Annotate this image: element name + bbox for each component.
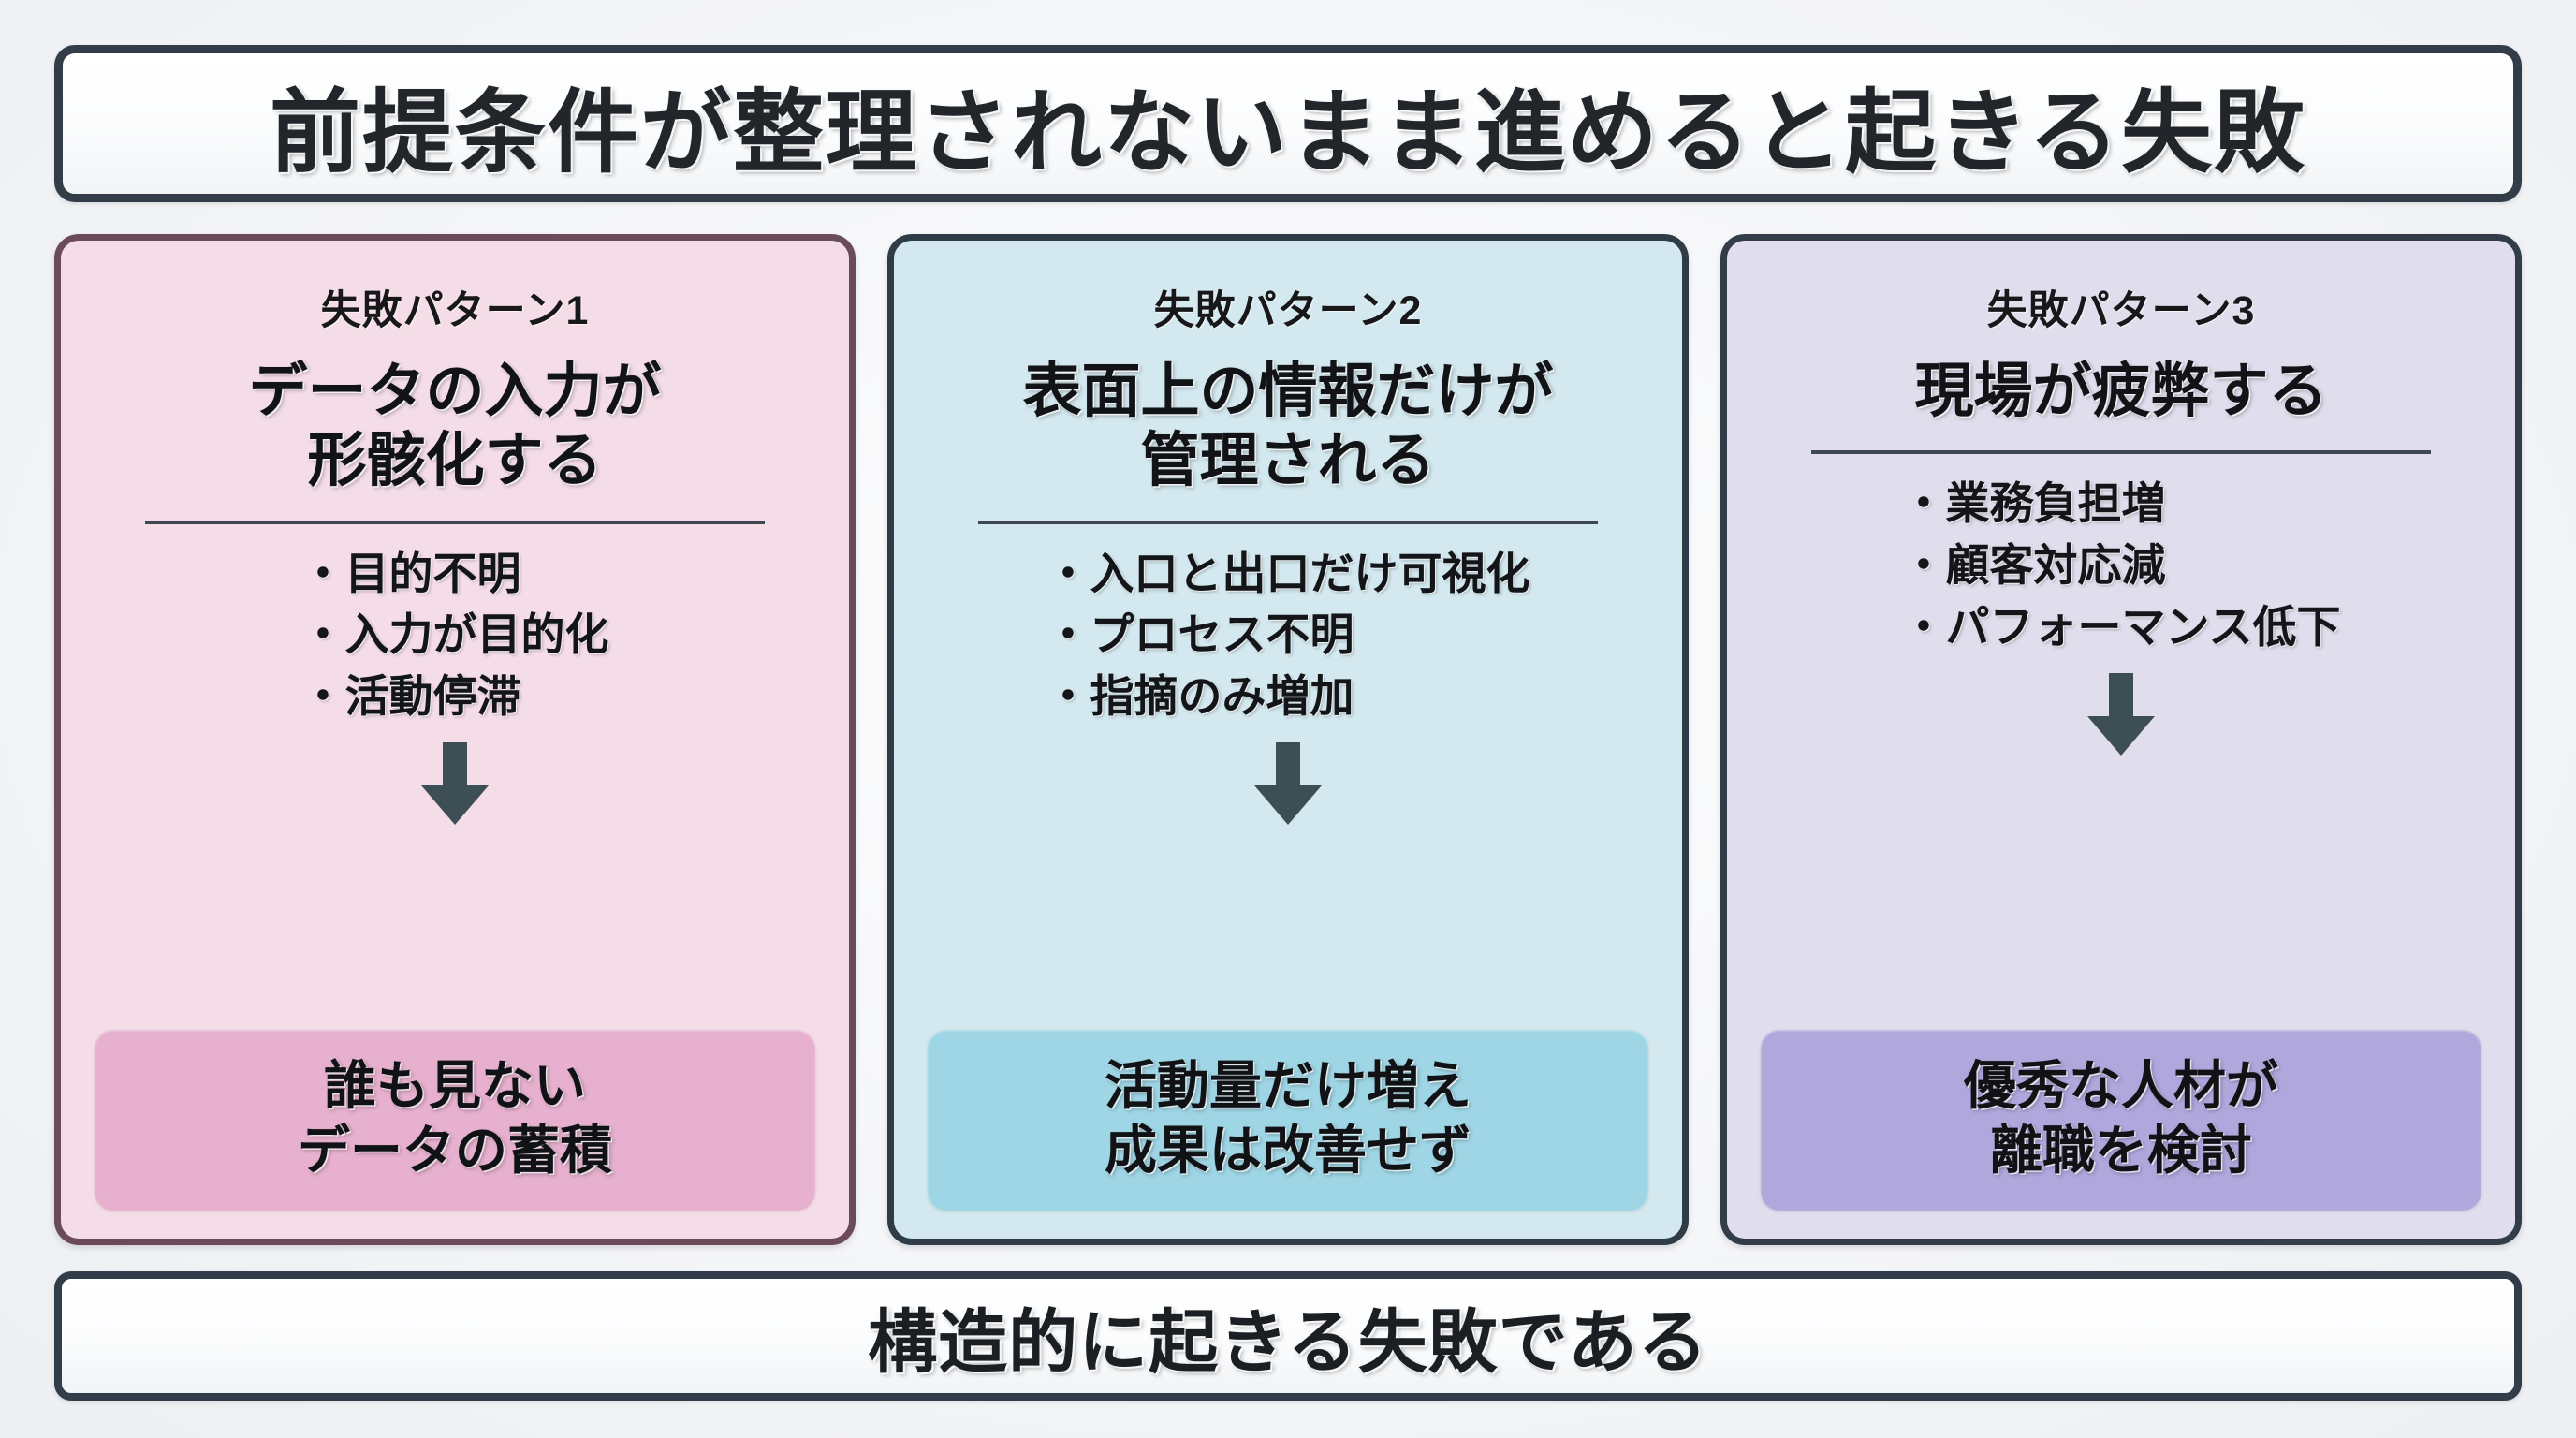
title-banner: 前提条件が整理されないまま進めると起きる失敗 [54, 45, 2522, 202]
down-arrow-icon [1251, 741, 1325, 831]
card-heading-line1: 現場が疲弊する [1915, 359, 2328, 424]
list-item: プロセス不明 [1046, 604, 1530, 666]
list-item: 活動停滞 [301, 666, 609, 727]
list-item: パフォーマンス低下 [1901, 596, 2340, 658]
list-item: 業務負担増 [1901, 473, 2340, 535]
list-item: 指摘のみ増加 [1046, 666, 1530, 727]
failure-pattern-card-1: 失敗パターン1 データの入力が 形骸化する 目的不明 入力が目的化 活動停滞 誰… [54, 234, 856, 1245]
down-arrow-icon [417, 741, 492, 831]
card-number-label-3: 失敗パターン3 [1987, 278, 2256, 336]
list-item: 顧客対応減 [1901, 535, 2340, 596]
failure-pattern-card-2: 失敗パターン2 表面上の情報だけが 管理される 入口と出口だけ可視化 プロセス不… [887, 234, 1689, 1245]
failure-pattern-card-row: 失敗パターン1 データの入力が 形骸化する 目的不明 入力が目的化 活動停滞 誰… [54, 234, 2522, 1245]
card-divider-2 [978, 521, 1598, 524]
card-divider-1 [145, 521, 765, 524]
slide-canvas: 前提条件が整理されないまま進めると起きる失敗 失敗パターン1 データの入力が 形… [0, 0, 2576, 1438]
card-heading-line2: 形骸化する [249, 426, 662, 495]
card-heading-line1: データの入力が [249, 359, 662, 424]
footer-conclusion: 構造的に起きる失敗である [868, 1286, 1708, 1387]
result-line1: 誰も見ない [324, 1056, 586, 1115]
down-arrow-icon [2084, 671, 2159, 762]
card-divider-3 [1811, 450, 2431, 454]
list-item: 目的不明 [301, 543, 609, 605]
list-item: 入口と出口だけ可視化 [1046, 543, 1530, 605]
card-bullet-list-1: 目的不明 入力が目的化 活動停滞 [301, 543, 609, 727]
page-title: 前提条件が整理されないまま進めると起きる失敗 [270, 58, 2306, 190]
card-result-box-1: 誰も見ない データの蓄積 [95, 1030, 815, 1211]
result-line1: 優秀な人材が [1964, 1056, 2278, 1115]
card-bullet-list-3: 業務負担増 顧客対応減 パフォーマンス低下 [1901, 473, 2340, 657]
failure-pattern-card-3: 失敗パターン3 現場が疲弊する 業務負担増 顧客対応減 パフォーマンス低下 優秀… [1720, 234, 2522, 1245]
card-number-label-1: 失敗パターン1 [321, 278, 590, 336]
list-item: 入力が目的化 [301, 604, 609, 666]
card-heading-line2: 管理される [1023, 426, 1554, 495]
result-line2: データの蓄積 [110, 1119, 800, 1182]
card-heading-3: 現場が疲弊する [1915, 357, 2328, 426]
card-heading-line1: 表面上の情報だけが [1023, 359, 1554, 424]
card-result-box-2: 活動量だけ増え 成果は改善せず [928, 1030, 1648, 1211]
card-heading-2: 表面上の情報だけが 管理される [1023, 357, 1554, 496]
card-bullet-list-2: 入口と出口だけ可視化 プロセス不明 指摘のみ増加 [1046, 543, 1530, 727]
result-line1: 活動量だけ増え [1105, 1056, 1471, 1115]
card-result-box-3: 優秀な人材が 離職を検討 [1761, 1030, 2481, 1211]
card-number-label-2: 失敗パターン2 [1154, 278, 1423, 336]
footer-banner: 構造的に起きる失敗である [54, 1271, 2522, 1401]
result-line2: 離職を検討 [1776, 1119, 2466, 1182]
result-line2: 成果は改善せず [943, 1119, 1633, 1182]
card-heading-1: データの入力が 形骸化する [249, 357, 662, 496]
